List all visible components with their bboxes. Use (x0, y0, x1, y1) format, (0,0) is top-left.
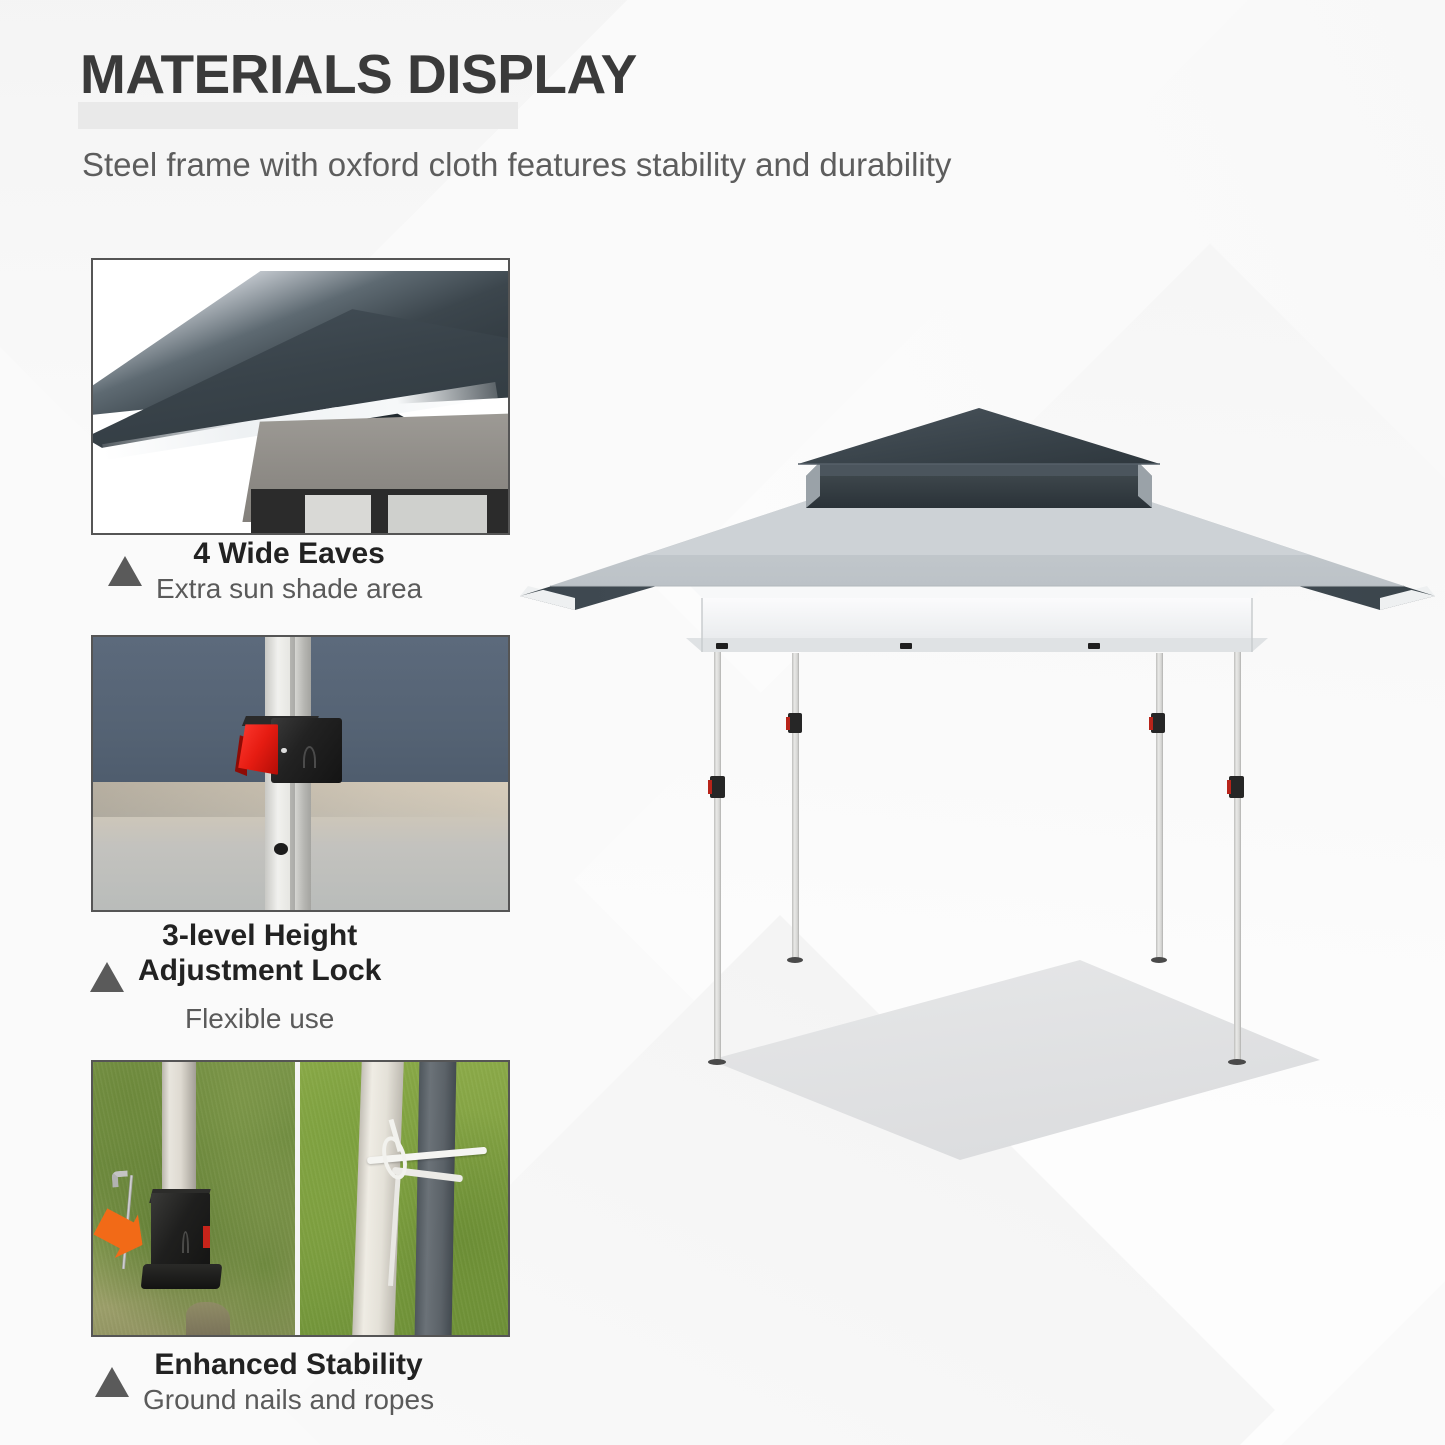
leg-foot-front-left (787, 957, 803, 963)
triangle-up-icon (95, 1367, 129, 1397)
background-panel-left (305, 495, 371, 533)
gazebo-svg (520, 400, 1445, 1200)
vent-top-cap (798, 408, 1160, 464)
dirt-patch (186, 1302, 230, 1335)
leg-lock-lever-back-right (1227, 780, 1231, 794)
pole-adjustment-hole (274, 843, 288, 855)
leg-foot-front-right (1151, 957, 1167, 963)
canopy-valance-underside (686, 638, 1268, 652)
caption-text-block: Enhanced Stability Ground nails and rope… (143, 1347, 434, 1417)
leg-lock-front-left (788, 713, 802, 733)
leg-foot-back-right (1228, 1059, 1246, 1065)
feature-caption-height-lock: 3-level Height Adjustment Lock Flexible … (90, 918, 510, 1036)
ground-stake-photo-half (93, 1062, 295, 1335)
foot-base-plate (141, 1264, 222, 1289)
title-highlight-bar (78, 102, 518, 129)
height-lock-photo (93, 637, 508, 910)
caption-title: 4 Wide Eaves (193, 536, 385, 571)
stake-hook (112, 1171, 129, 1188)
red-release-lever (238, 724, 278, 775)
triangle-up-icon (90, 962, 124, 992)
ground-plane (710, 960, 1320, 1160)
frame-clip-1 (716, 643, 728, 649)
caption-subtitle: Ground nails and ropes (143, 1382, 434, 1417)
feature-thumbnail-wide-eaves (91, 258, 510, 535)
caption-title-line-1: 3-level Height (162, 918, 357, 953)
grass-texture (300, 1062, 508, 1335)
leg-back-right (1234, 643, 1241, 1063)
leg-lock-lever-front-right (1149, 717, 1153, 730)
leg-lock-back-left (710, 776, 725, 798)
feature-caption-stability: Enhanced Stability Ground nails and rope… (95, 1347, 515, 1417)
wide-eaves-photo (93, 260, 508, 533)
leg-back-left (714, 643, 721, 1063)
vent-band (806, 476, 1152, 508)
page-title: MATERIALS DISPLAY (80, 42, 637, 106)
caption-subtitle: Extra sun shade area (156, 571, 422, 606)
background-panel-right (388, 495, 488, 533)
hero-product-illustration (520, 400, 1445, 1200)
leg-front-left (792, 653, 799, 961)
caption-subtitle: Flexible use (185, 1001, 334, 1036)
enhanced-stability-photo (93, 1062, 508, 1335)
page-subtitle: Steel frame with oxford cloth features s… (82, 146, 951, 184)
caption-text-block: 3-level Height Adjustment Lock Flexible … (138, 918, 381, 1036)
leg-lock-front-right (1151, 713, 1165, 733)
lock-pin-dot (281, 748, 286, 753)
caption-title-line-2: Adjustment Lock (138, 953, 381, 988)
black-foot-bracket (151, 1193, 209, 1272)
dark-gazebo-pole (414, 1062, 456, 1335)
triangle-up-icon (108, 556, 142, 586)
foot-bracket-red-tab (203, 1226, 210, 1248)
caption-title: Enhanced Stability (154, 1347, 422, 1382)
lock-arrow-marking (303, 746, 316, 768)
leg-lock-lever-front-left (786, 717, 790, 730)
leg-foot-back-left (708, 1059, 726, 1065)
leg-front-right (1156, 653, 1163, 961)
caption-text-block: 4 Wide Eaves Extra sun shade area (156, 536, 422, 606)
leg-lock-lever-back-left (708, 780, 712, 794)
rope-tie-photo-half (300, 1062, 508, 1335)
leg-lock-back-right (1229, 776, 1244, 798)
feature-thumbnail-stability (91, 1060, 510, 1337)
frame-clip-3 (1088, 643, 1100, 649)
feature-thumbnail-height-lock (91, 635, 510, 912)
feature-caption-wide-eaves: 4 Wide Eaves Extra sun shade area (108, 536, 508, 606)
materials-display-page: MATERIALS DISPLAY Steel frame with oxfor… (0, 0, 1445, 1445)
frame-clip-2 (900, 643, 912, 649)
